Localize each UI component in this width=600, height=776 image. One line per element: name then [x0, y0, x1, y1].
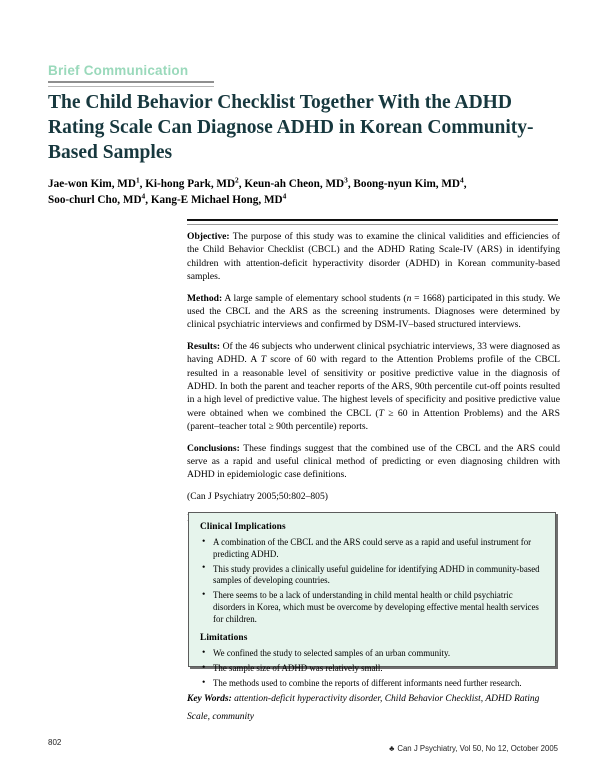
abstract-objective-label: Objective:: [187, 231, 230, 242]
list-item: There seems to be a lack of understandin…: [200, 590, 544, 625]
abstract-conclusions-text: These findings suggest that the combined…: [187, 443, 560, 481]
section-label: Brief Communication: [48, 63, 188, 78]
author-affiliation-marker: 1: [136, 175, 140, 184]
page-number: 802: [48, 738, 61, 747]
author-entry: Jae-won Kim, MD1,: [48, 178, 145, 190]
author-affiliation-marker: 4: [283, 191, 287, 200]
abstract-method-label: Method:: [187, 293, 222, 304]
author-entry: Keun-ah Cheon, MD3,: [244, 178, 353, 190]
list-item: We confined the study to selected sample…: [200, 648, 544, 660]
abstract-citation: (Can J Psychiatry 2005;50:802–805): [187, 490, 560, 503]
keywords: Key Words: attention-deficit hyperactivi…: [187, 690, 560, 726]
author-entry: Soo-churl Cho, MD4,: [48, 194, 151, 206]
article-title: The Child Behavior Checklist Together Wi…: [48, 90, 548, 165]
abstract-objective: Objective: The purpose of this study was…: [187, 230, 560, 283]
limitations-list: We confined the study to selected sample…: [200, 648, 544, 690]
abstract-method-text-a: A large sample of elementary school stud…: [222, 293, 406, 304]
author-name: Keun-ah Cheon, MD: [244, 178, 344, 190]
list-item: A combination of the CBCL and the ARS co…: [200, 537, 544, 560]
author-entry: Ki-hong Park, MD2,: [145, 178, 244, 190]
maple-leaf-icon: ♣: [389, 745, 394, 753]
limitations-heading: Limitations: [200, 633, 544, 643]
paper-page: Brief Communication The Child Behavior C…: [0, 0, 600, 776]
journal-citation-text: Can J Psychiatry, Vol 50, No 12, October…: [397, 744, 558, 753]
abstract-results-label: Results:: [187, 341, 220, 352]
author-name: Boong-nyun Kim, MD: [353, 178, 460, 190]
abstract-method: Method: A large sample of elementary sch…: [187, 292, 560, 332]
clinical-implications-list: A combination of the CBCL and the ARS co…: [200, 537, 544, 625]
abstract-conclusions: Conclusions: These findings suggest that…: [187, 442, 560, 482]
author-list: Jae-won Kim, MD1, Ki-hong Park, MD2, Keu…: [48, 176, 553, 208]
abstract-top-rule: [187, 219, 558, 225]
author-entry: Boong-nyun Kim, MD4,: [353, 178, 466, 190]
author-affiliation-marker: 3: [344, 175, 348, 184]
abstract-conclusions-label: Conclusions:: [187, 443, 240, 454]
list-item: This study provides a clinically useful …: [200, 564, 544, 587]
journal-footer: ♣Can J Psychiatry, Vol 50, No 12, Octobe…: [389, 744, 558, 753]
author-affiliation-marker: 4: [460, 175, 464, 184]
abstract: Objective: The purpose of this study was…: [187, 230, 560, 534]
author-affiliation-marker: 4: [142, 191, 146, 200]
author-name: Soo-churl Cho, MD: [48, 194, 142, 206]
abstract-results: Results: Of the 46 subjects who underwen…: [187, 340, 560, 433]
author-name: Jae-won Kim, MD: [48, 178, 136, 190]
list-item: The sample size of ADHD was relatively s…: [200, 663, 544, 675]
section-label-rule: [48, 81, 214, 87]
list-item: The methods used to combine the reports …: [200, 678, 544, 690]
author-name: Ki-hong Park, MD: [145, 178, 235, 190]
author-name: Kang-E Michael Hong, MD: [151, 194, 283, 206]
abstract-objective-text: The purpose of this study was to examine…: [187, 231, 560, 282]
keywords-label: Key Words:: [187, 694, 232, 704]
keywords-terms: attention-deficit hyperactivity disorder…: [187, 694, 539, 722]
author-affiliation-marker: 2: [235, 175, 239, 184]
author-entry: Kang-E Michael Hong, MD4: [151, 194, 286, 206]
clinical-implications-box: Clinical Implications A combination of t…: [188, 512, 556, 667]
clinical-implications-heading: Clinical Implications: [200, 522, 544, 532]
